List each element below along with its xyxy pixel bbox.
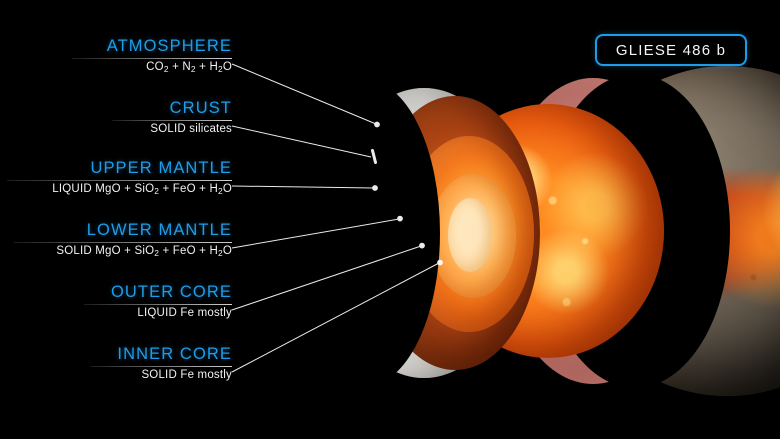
label-group-upper-mantle[interactable]: UPPER MANTLE LIQUID MgO + SiO2 + FeO + H… [0, 160, 232, 195]
label-title-upper-mantle: UPPER MANTLE [0, 160, 232, 177]
label-title-atmosphere: ATMOSPHERE [0, 38, 232, 55]
label-group-inner-core[interactable]: INNER CORE SOLID Fe mostly [0, 346, 232, 381]
leader-tick-crust [373, 151, 376, 163]
leader-dot-upper-mantle [373, 186, 378, 191]
leader-dot-atmosphere [375, 122, 380, 127]
label-group-crust[interactable]: CRUST SOLID silicates [0, 100, 232, 135]
label-group-lower-mantle[interactable]: LOWER MANTLE SOLID MgO + SiO2 + FeO + H2… [0, 222, 232, 257]
planet-interior-infographic: ATMOSPHERE CO2 + N2 + H2O CRUST SOLID si… [0, 0, 780, 439]
label-group-outer-core[interactable]: OUTER CORE LIQUID Fe mostly [0, 284, 232, 319]
planet-name-text: GLIESE 486 b [616, 42, 726, 59]
leader-dot-inner-core [438, 260, 443, 265]
label-subtitle-lower-mantle: SOLID MgO + SiO2 + FeO + H2O [0, 246, 232, 258]
layer-label-stack: ATMOSPHERE CO2 + N2 + H2O CRUST SOLID si… [0, 0, 300, 439]
label-rule-lower-mantle [14, 242, 232, 243]
label-rule-inner-core [90, 366, 232, 367]
label-subtitle-inner-core: SOLID Fe mostly [0, 370, 232, 382]
label-rule-crust [112, 120, 232, 121]
label-subtitle-atmosphere: CO2 + N2 + H2O [0, 62, 232, 74]
label-rule-atmosphere [72, 58, 232, 59]
label-rule-outer-core [84, 304, 232, 305]
label-title-lower-mantle: LOWER MANTLE [0, 222, 232, 239]
label-rule-upper-mantle [7, 180, 232, 181]
leader-dot-lower-mantle [398, 216, 403, 221]
label-title-crust: CRUST [0, 100, 232, 117]
label-subtitle-outer-core: LIQUID Fe mostly [0, 308, 232, 320]
label-subtitle-upper-mantle: LIQUID MgO + SiO2 + FeO + H2O [0, 184, 232, 196]
label-subtitle-crust: SOLID silicates [0, 124, 232, 136]
leader-dot-outer-core [420, 243, 425, 248]
planet-name-badge[interactable]: GLIESE 486 b [595, 34, 747, 66]
label-title-inner-core: INNER CORE [0, 346, 232, 363]
label-group-atmosphere[interactable]: ATMOSPHERE CO2 + N2 + H2O [0, 38, 232, 73]
label-title-outer-core: OUTER CORE [0, 284, 232, 301]
